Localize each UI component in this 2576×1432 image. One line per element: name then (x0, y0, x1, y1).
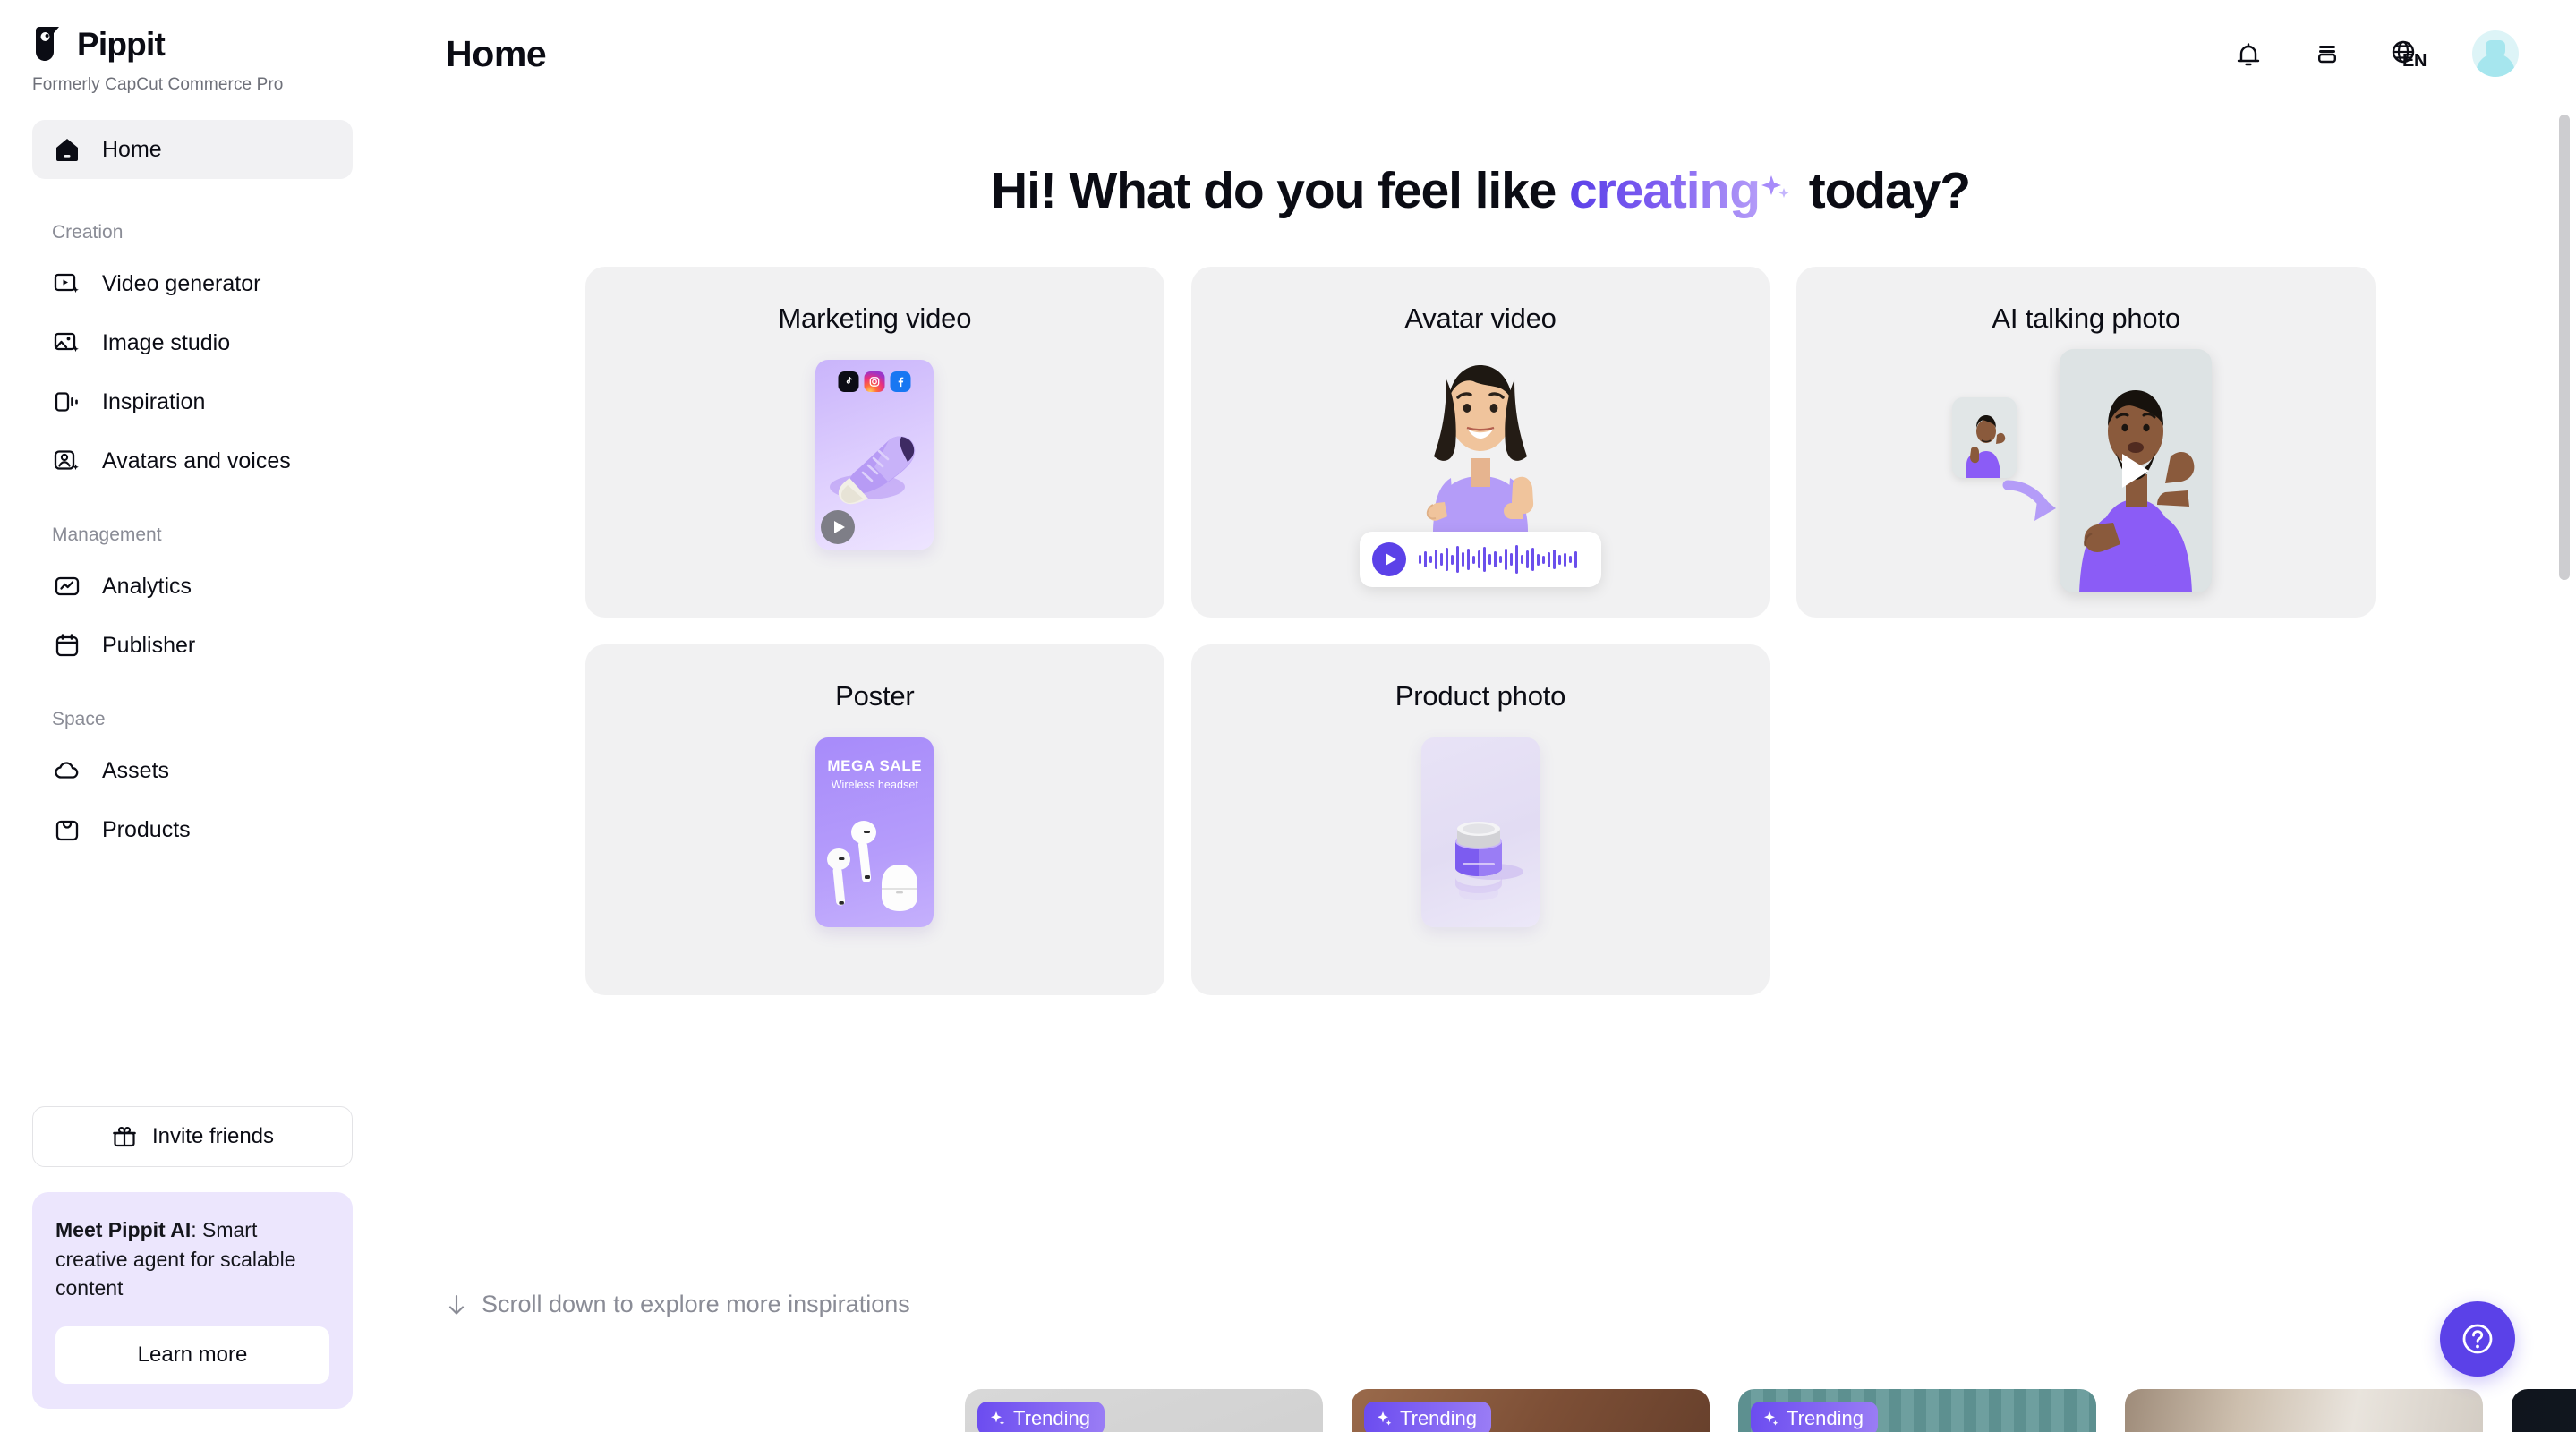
sidebar-item-assets[interactable]: Assets (32, 741, 353, 800)
sidebar-item-inspiration[interactable]: Inspiration (32, 372, 353, 431)
sidebar-item-label: Home (102, 137, 162, 163)
creation-cards-grid: Marketing video (585, 267, 2376, 995)
sidebar-group-management-label: Management (32, 524, 353, 546)
avatar-body (2476, 54, 2515, 77)
scroll-hint-text: Scroll down to explore more inspirations (482, 1291, 910, 1318)
card-title: Product photo (1191, 644, 1770, 712)
poster-subtitle: Wireless headset (815, 779, 934, 791)
analytics-icon (52, 571, 82, 601)
sidebar-item-label: Assets (102, 758, 169, 784)
audio-player-bar[interactable] (1360, 532, 1601, 587)
invite-friends-label: Invite friends (152, 1124, 274, 1149)
question-mark-help-icon (2458, 1319, 2497, 1359)
sidebar-item-products[interactable]: Products (32, 800, 353, 859)
pippit-logo-icon (32, 25, 66, 63)
avatars-voices-icon (52, 446, 82, 476)
hero: Hi! What do you feel like creating today… (385, 161, 2576, 220)
sidebar-group-space-label: Space (32, 709, 353, 730)
social-icons (839, 371, 911, 392)
hero-heading: Hi! What do you feel like creating today… (991, 161, 1970, 220)
card-poster[interactable]: Poster MEGA SALE Wireless headset (585, 644, 1164, 995)
card-title: Poster (585, 644, 1164, 712)
product-photo-art (1421, 737, 1540, 927)
sidebar-item-label: Analytics (102, 574, 192, 600)
trending-card[interactable]: Trending (1738, 1389, 2096, 1432)
trending-card[interactable] (2125, 1389, 2483, 1432)
generated-video-thumbnail (2060, 349, 2212, 592)
brand-row[interactable]: Pippit (32, 25, 353, 63)
brand-tagline: Formerly CapCut Commerce Pro (32, 75, 353, 95)
sidebar-item-video-generator[interactable]: Video generator (32, 254, 353, 313)
card-title: AI talking photo (1796, 267, 2376, 335)
marketing-video-art (815, 360, 934, 550)
trending-card[interactable]: Trending (965, 1389, 1323, 1432)
app-root: Pippit Formerly CapCut Commerce Pro Home… (0, 0, 2576, 1432)
cloud-assets-icon (52, 755, 82, 786)
cosmetic-jar-illustration (1436, 795, 1525, 909)
card-marketing-video[interactable]: Marketing video (585, 267, 1164, 618)
ai-talking-photo-art (1952, 345, 2221, 592)
user-avatar-icon[interactable] (2472, 30, 2519, 77)
sidebar-item-label: Inspiration (102, 389, 205, 415)
card-product-photo[interactable]: Product photo (1191, 644, 1770, 995)
inspiration-icon (52, 387, 82, 417)
badge-label: Trending (1787, 1407, 1864, 1430)
notification-bell-icon[interactable] (2229, 34, 2268, 73)
sidebar-nav: Home Creation Video generator (32, 120, 353, 859)
sidebar-item-image-studio[interactable]: Image studio (32, 313, 353, 372)
facebook-icon (891, 371, 911, 392)
sparkle-icon (988, 1410, 1006, 1428)
page-title: Home (446, 33, 546, 75)
sidebar-group-creation-label: Creation (32, 222, 353, 243)
image-studio-icon (52, 328, 82, 358)
sidebar-item-label: Avatars and voices (102, 448, 291, 474)
avatar-video-art (1360, 344, 1601, 594)
arrow-down-icon (446, 1293, 467, 1317)
invite-friends-button[interactable]: Invite friends (32, 1106, 353, 1167)
language-label: EN (2402, 51, 2427, 72)
promo-bold: Meet Pippit AI (55, 1218, 191, 1241)
brand-block: Pippit Formerly CapCut Commerce Pro (32, 0, 353, 95)
status-badge: Trending (1364, 1402, 1491, 1432)
badge-label: Trending (1013, 1407, 1090, 1430)
brand-name: Pippit (77, 28, 165, 61)
poster-art: MEGA SALE Wireless headset (815, 737, 934, 927)
trending-strip: Trending Trending Trending (965, 1389, 2576, 1432)
play-button[interactable] (1372, 542, 1406, 576)
sidebar-item-label: Video generator (102, 271, 260, 297)
sparkle-icon (1375, 1410, 1393, 1428)
sidebar-item-avatars-and-voices[interactable]: Avatars and voices (32, 431, 353, 490)
sidebar-item-label: Publisher (102, 633, 195, 659)
source-photo-thumbnail (1952, 397, 2017, 478)
hero-prefix: Hi! What do you feel like (991, 162, 1569, 219)
topbar: Home (385, 0, 2576, 107)
audio-waveform (1419, 544, 1577, 575)
poster-headline: MEGA SALE (815, 757, 934, 775)
archive-box-icon[interactable] (2307, 34, 2347, 73)
earbuds-illustration (824, 809, 925, 916)
video-generator-icon (52, 268, 82, 299)
main-content: Home (385, 0, 2576, 1432)
promo-text: Meet Pippit AI: Smart creative agent for… (55, 1215, 329, 1303)
top-actions: EN (2229, 30, 2519, 77)
sparkle-icon (1761, 1410, 1779, 1428)
promo-card: Meet Pippit AI: Smart creative agent for… (32, 1192, 353, 1409)
card-avatar-video[interactable]: Avatar video (1191, 267, 1770, 618)
badge-label: Trending (1400, 1407, 1477, 1430)
hero-suffix: today? (1796, 162, 1970, 219)
trending-card[interactable]: Trending (1352, 1389, 1710, 1432)
scrollbar[interactable] (2553, 0, 2576, 1432)
sidebar-item-home[interactable]: Home (32, 120, 353, 179)
card-ai-talking-photo[interactable]: AI talking photo (1796, 267, 2376, 618)
learn-more-button[interactable]: Learn more (55, 1326, 329, 1384)
sidebar-item-label: Image studio (102, 330, 230, 356)
instagram-icon (865, 371, 885, 392)
sidebar-item-analytics[interactable]: Analytics (32, 557, 353, 616)
tiktok-icon (839, 371, 859, 392)
publisher-calendar-icon (52, 630, 82, 661)
presenter-illustration (1395, 344, 1565, 551)
scroll-hint: Scroll down to explore more inspirations (446, 1291, 910, 1318)
sneaker-illustration (823, 422, 928, 508)
gift-icon (111, 1123, 138, 1150)
card-title: Avatar video (1191, 267, 1770, 335)
status-badge: Trending (977, 1402, 1105, 1432)
sidebar-footer: Invite friends Meet Pippit AI: Smart cre… (32, 1106, 353, 1409)
transform-arrow-icon (2002, 480, 2067, 539)
home-icon (52, 134, 82, 165)
play-triangle[interactable] (2122, 454, 2149, 488)
scrollbar-thumb[interactable] (2559, 115, 2570, 580)
status-badge: Trending (1751, 1402, 1878, 1432)
hero-highlight: creating (1569, 162, 1760, 219)
sidebar-item-publisher[interactable]: Publisher (32, 616, 353, 675)
play-triangle (1386, 553, 1396, 566)
language-selector[interactable]: EN (2386, 34, 2433, 73)
sidebar-item-label: Products (102, 817, 191, 843)
products-bag-icon (52, 814, 82, 845)
card-title: Marketing video (585, 267, 1164, 335)
play-button[interactable] (821, 510, 855, 544)
sidebar: Pippit Formerly CapCut Commerce Pro Home… (0, 0, 385, 1432)
help-button[interactable] (2440, 1301, 2515, 1377)
play-triangle (834, 521, 845, 533)
sparkle-icon (1756, 170, 1792, 211)
